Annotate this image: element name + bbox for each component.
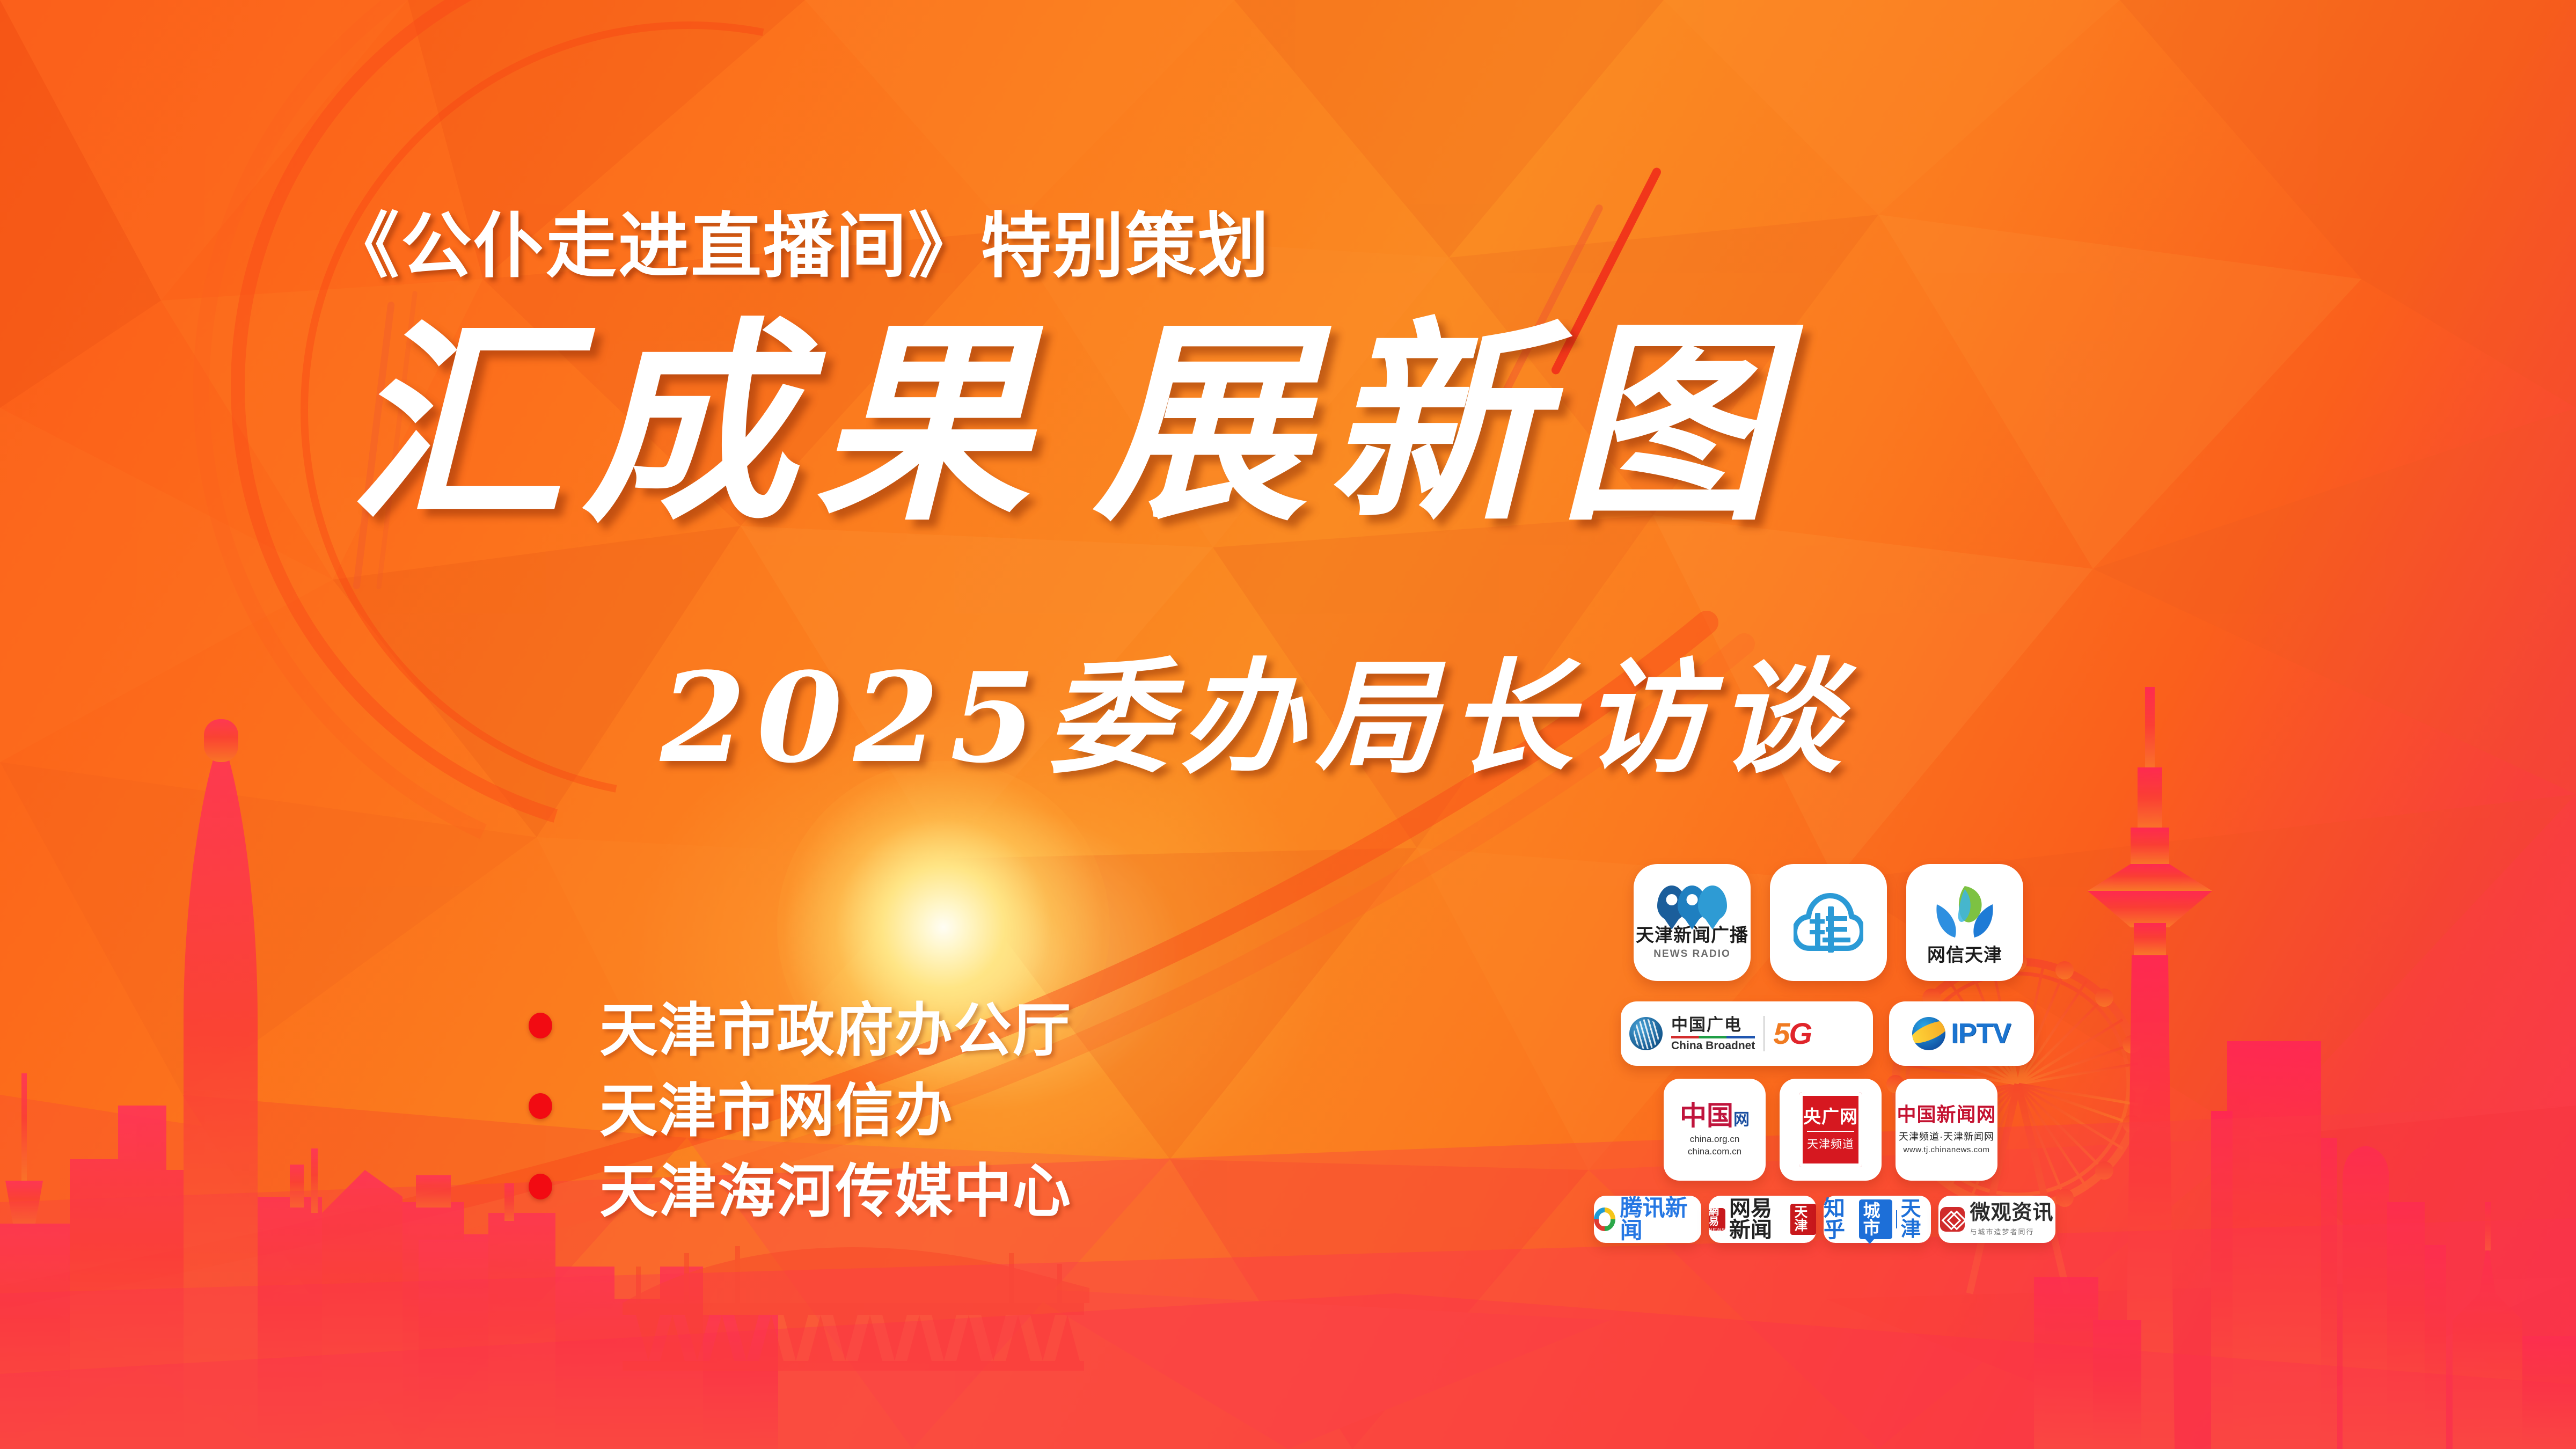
5g-letter: G xyxy=(1789,1016,1812,1050)
netease-badge-en: NEWS xyxy=(1709,1228,1725,1233)
chinanews-label: 中国新闻网 xyxy=(1897,1105,1996,1124)
netease-region-tag: 天津 xyxy=(1790,1204,1816,1235)
bullet-dot-icon xyxy=(529,1013,552,1038)
list-item: 天津市网信办 xyxy=(529,1066,1072,1146)
logo-card-wangxin-tianjin[interactable]: 网信天津 xyxy=(1906,864,2023,981)
title-part-1: 汇成果 xyxy=(349,298,1048,550)
iptv-label: IPTV xyxy=(1951,1020,2011,1048)
zhihu-divider xyxy=(1896,1210,1897,1228)
tencent-penguin-icon xyxy=(1594,1207,1615,1231)
iptv-globe-icon xyxy=(1912,1017,1945,1050)
logo-card-iptv[interactable]: IPTV xyxy=(1889,1001,2034,1066)
program-subtitle: 《公仆走进直播间》特别策划 xyxy=(328,189,1270,291)
logo-card-chinanews-tianjin[interactable]: 中国新闻网 天津频道·天津新闻网 www.tj.chinanews.com xyxy=(1896,1079,1997,1181)
weiguan-slogan: 与城市造梦者同行 xyxy=(1970,1226,2034,1236)
list-item: 天津海河传媒中心 xyxy=(529,1146,1072,1227)
cnr-label: 央广网 xyxy=(1803,1108,1858,1125)
organizer-label: 天津市网信办 xyxy=(599,1064,954,1148)
poster-canvas: 《公仆走进直播间》特别策划 汇成果展新图 2025委办局长访谈 天津市政府办公厅… xyxy=(0,0,2576,1449)
zhihu-label: 知乎 xyxy=(1824,1198,1855,1241)
cloud-jin-icon xyxy=(1794,892,1863,953)
list-item: 天津市政府办公厅 xyxy=(529,985,1072,1066)
china-broadnet-label-cn: 中国广电 xyxy=(1671,1016,1742,1033)
netease-news-label: 网易新闻 xyxy=(1729,1198,1787,1241)
5g-digit: 5 xyxy=(1773,1016,1789,1050)
logo-card-news-radio[interactable]: 天津新闻广播 NEWS RADIO xyxy=(1634,864,1751,981)
5g-badge: 5G xyxy=(1773,1019,1811,1049)
china-broadnet-globe-icon xyxy=(1629,1017,1663,1050)
logo-divider xyxy=(1763,1016,1765,1051)
china-net-cn: 中国 xyxy=(1680,1100,1733,1131)
netease-badge-cn: 網易 xyxy=(1709,1206,1725,1227)
news-radio-label-en: NEWS RADIO xyxy=(1653,948,1731,960)
logo-card-netease-news-tianjin[interactable]: 網易 NEWS 网易新闻 天津 xyxy=(1709,1196,1816,1243)
chinanews-sublabel-2: www.tj.chinanews.com xyxy=(1904,1145,1990,1154)
cnr-seal-icon: 央广网 天津频道 xyxy=(1799,1092,1862,1167)
china-net-wordmark: 中国网 xyxy=(1680,1102,1750,1129)
bullet-dot-icon xyxy=(529,1174,552,1199)
chinanews-sublabel-1: 天津频道·天津新闻网 xyxy=(1899,1129,1994,1143)
leaf-hands-icon xyxy=(1933,881,1997,941)
logo-card-china-net[interactable]: 中国网 china.org.cn china.com.cn xyxy=(1664,1079,1766,1181)
netease-badge-icon: 網易 NEWS xyxy=(1709,1208,1725,1231)
organizer-label: 天津市政府办公厅 xyxy=(599,984,1072,1067)
china-net-suffix: 网 xyxy=(1733,1110,1750,1129)
news-radio-pin-icon xyxy=(1657,885,1727,921)
weiguan-label: 微观资讯 xyxy=(1970,1203,2053,1223)
year-subtitle: 2025委办局长访谈 xyxy=(660,618,1851,797)
logo-card-jin-cloud[interactable]: 津 xyxy=(1770,864,1887,981)
logo-card-weiguan-news[interactable]: 微观资讯 与城市造梦者同行 xyxy=(1938,1196,2055,1243)
bullet-dot-icon xyxy=(529,1093,552,1119)
zhihu-region-label: 天津 xyxy=(1901,1199,1931,1240)
logo-card-tencent-news[interactable]: 腾讯新闻 xyxy=(1594,1196,1701,1243)
china-broadnet-colorbar xyxy=(1671,1036,1755,1038)
weiguan-diamond-icon xyxy=(1940,1207,1965,1232)
organizer-label: 天津海河传媒中心 xyxy=(599,1145,1072,1228)
zhihu-city-tag: 城市 xyxy=(1859,1199,1892,1239)
tencent-news-label: 腾讯新闻 xyxy=(1620,1197,1701,1242)
china-broadnet-label-en: China Broadnet xyxy=(1671,1040,1755,1051)
title-part-2: 展新图 xyxy=(1094,298,1792,550)
organizer-list: 天津市政府办公厅 天津市网信办 天津海河传媒中心 xyxy=(529,985,1072,1227)
logo-card-china-broadnet-5g[interactable]: 中国广电 China Broadnet 5G xyxy=(1621,1001,1873,1066)
cnr-sublabel: 天津频道 xyxy=(1807,1131,1854,1152)
headline-block: 《公仆走进直播间》特别策划 汇成果展新图 2025委办局长访谈 xyxy=(0,0,2576,1449)
logo-card-zhihu-city-tianjin[interactable]: 知乎 城市 天津 xyxy=(1824,1196,1931,1243)
page-title: 汇成果展新图 xyxy=(349,311,2281,537)
wangxin-label: 网信天津 xyxy=(1927,946,2002,964)
logo-card-cnr-tianjin[interactable]: 央广网 天津频道 xyxy=(1780,1079,1882,1181)
china-net-url-1: china.org.cn xyxy=(1690,1133,1740,1145)
china-net-url-2: china.com.cn xyxy=(1688,1146,1741,1157)
